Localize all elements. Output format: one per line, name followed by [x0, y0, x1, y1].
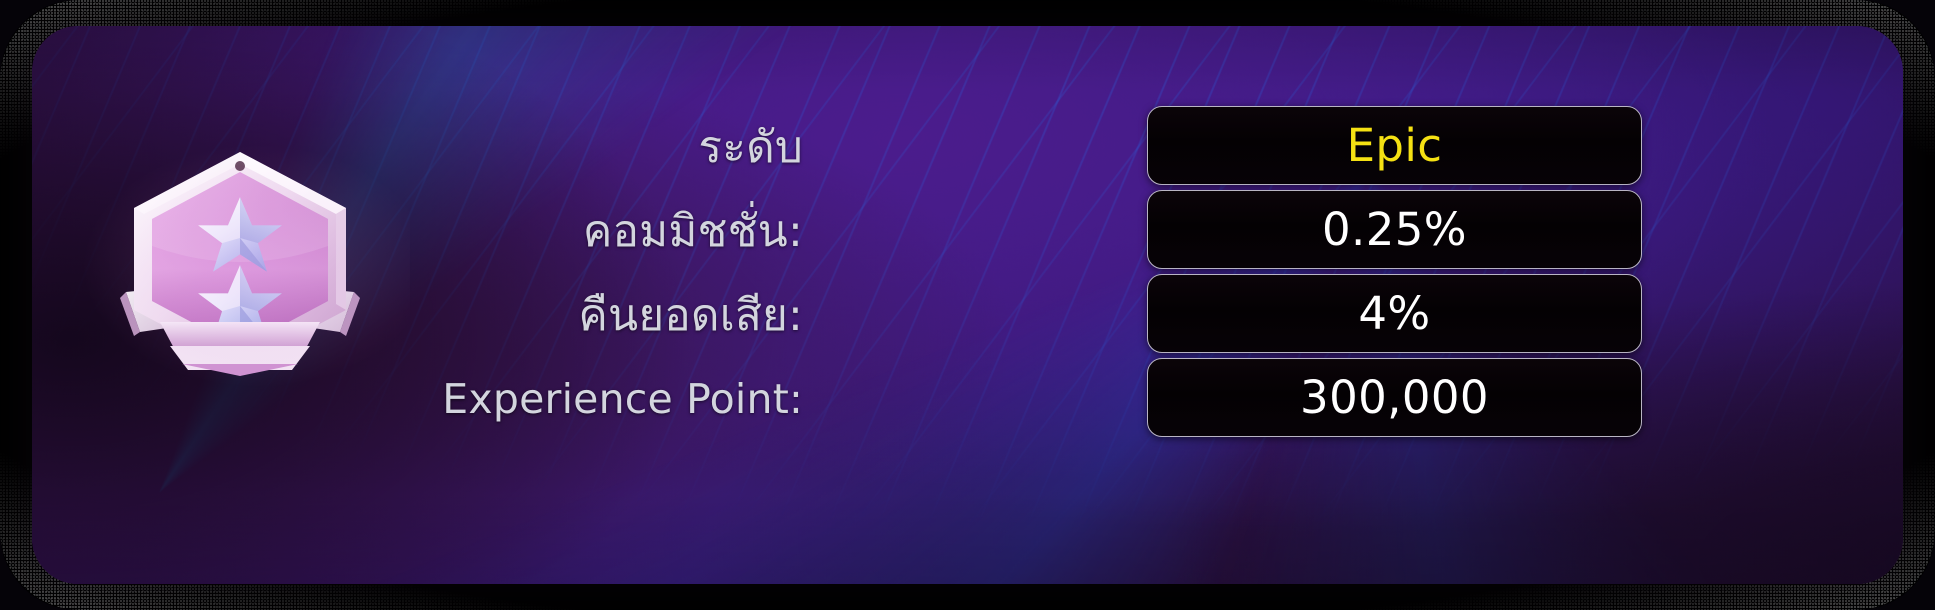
stat-row-cashback: คืนยอดเสีย: 4%: [32, 274, 1903, 356]
stat-value-box-experience-point[interactable]: 300,000: [1147, 358, 1642, 437]
rank-card: ระดับ Epic คอมมิชชั่น: 0.25% คืนยอดเสีย:…: [0, 0, 1935, 610]
stat-value-box-commission[interactable]: 0.25%: [1147, 190, 1642, 269]
stat-label-rank: ระดับ: [698, 106, 803, 188]
stat-label-experience-point: Experience Point:: [442, 358, 803, 440]
stat-value-commission: 0.25%: [1322, 207, 1467, 252]
stat-value-cashback: 4%: [1358, 291, 1430, 336]
stat-value-box-cashback[interactable]: 4%: [1147, 274, 1642, 353]
stats-list: ระดับ Epic คอมมิชชั่น: 0.25% คืนยอดเสีย:…: [32, 106, 1903, 442]
stat-row-rank: ระดับ Epic: [32, 106, 1903, 188]
stat-row-experience-point: Experience Point: 300,000: [32, 358, 1903, 440]
stat-label-commission: คอมมิชชั่น:: [583, 190, 803, 272]
stat-row-commission: คอมมิชชั่น: 0.25%: [32, 190, 1903, 272]
stat-value-experience-point: 300,000: [1300, 375, 1489, 420]
stat-value-rank: Epic: [1347, 123, 1443, 168]
stat-value-box-rank[interactable]: Epic: [1147, 106, 1642, 185]
stat-label-cashback: คืนยอดเสีย:: [578, 274, 803, 356]
card-panel: ระดับ Epic คอมมิชชั่น: 0.25% คืนยอดเสีย:…: [32, 26, 1903, 584]
